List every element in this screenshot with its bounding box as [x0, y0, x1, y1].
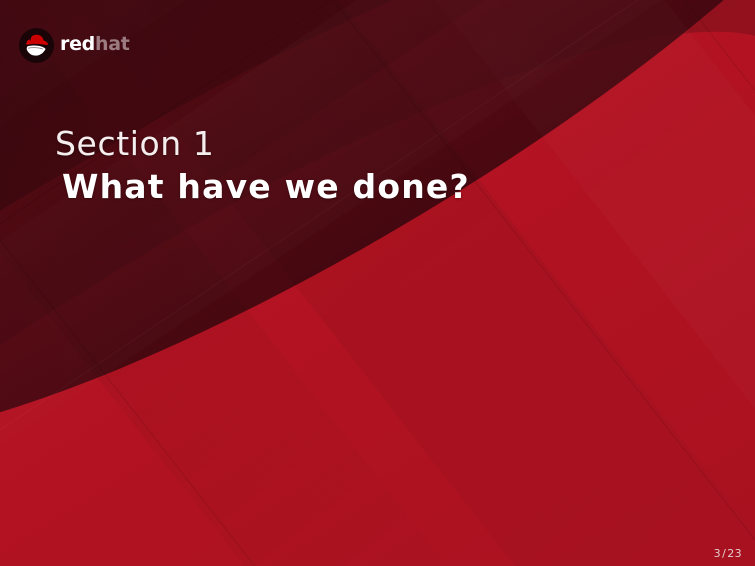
wordmark-red: red: [60, 33, 95, 55]
page-current: 3: [714, 547, 721, 560]
section-heading: What have we done?: [62, 170, 695, 203]
wordmark-hat: hat: [95, 33, 130, 55]
redhat-wordmark: redhat: [60, 35, 130, 56]
slide-background: [0, 0, 755, 566]
page-indicator: 3/23: [714, 547, 742, 560]
redhat-shadowman-icon: [19, 28, 54, 63]
redhat-logo: redhat: [19, 26, 130, 64]
slide-canvas: redhat Section 1 What have we done? 3/23: [0, 0, 755, 566]
section-label: Section 1: [55, 127, 695, 160]
title-block: Section 1 What have we done?: [55, 127, 695, 203]
page-total: 23: [727, 547, 742, 560]
